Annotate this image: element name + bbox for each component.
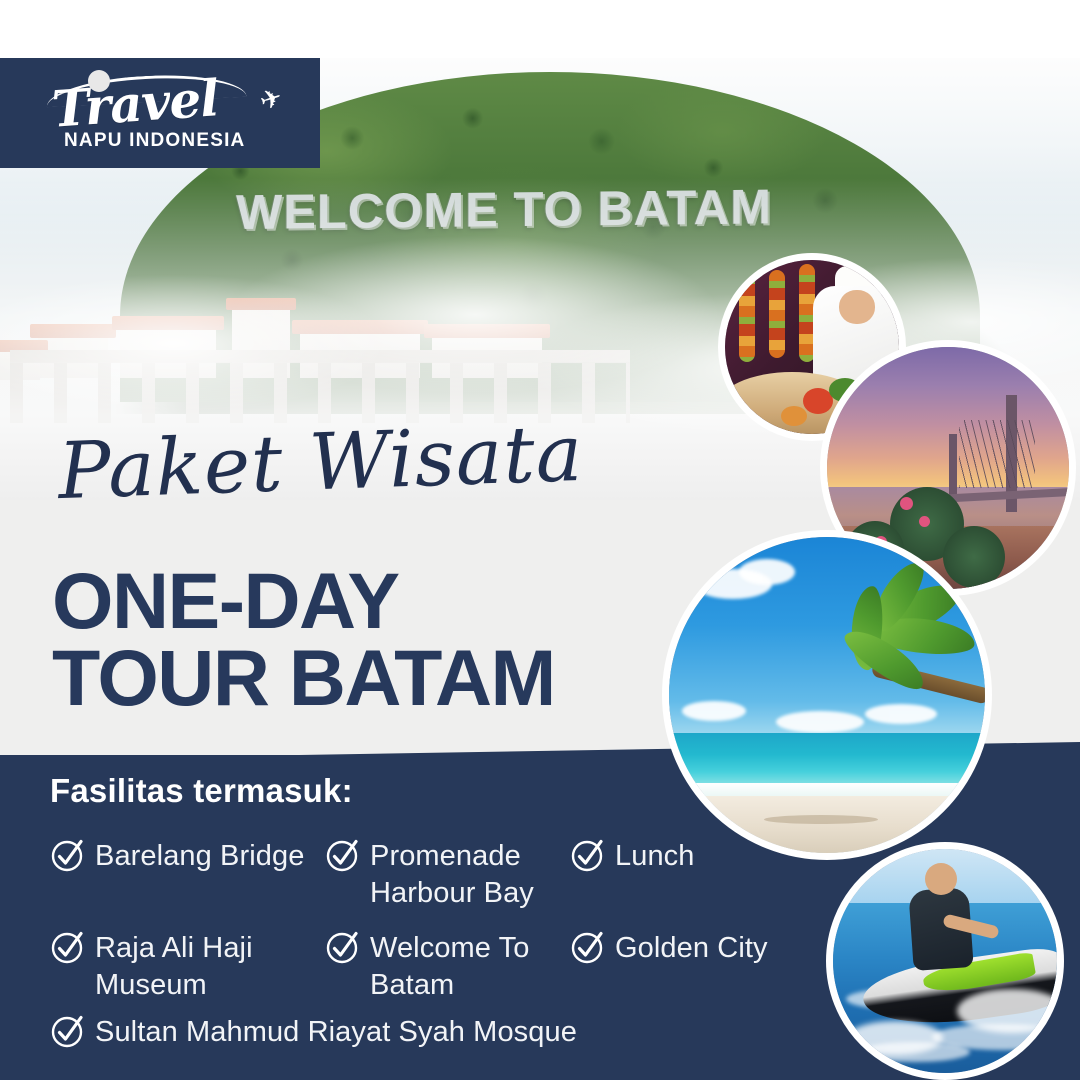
facility-item: Promenade Harbour Bay [325,836,575,912]
facility-label: Sultan Mahmud Riayat Syah Mosque [95,1012,577,1051]
check-circle-icon [50,1013,86,1049]
check-circle-icon [570,929,606,965]
facility-item: Raja Ali Haji Museum [50,928,320,1004]
script-title: Paket Wisata [57,415,585,511]
facility-label: Raja Ali Haji Museum [95,928,320,1004]
airplane-icon: ✈ [257,83,286,114]
brand-script-name: Travel [50,68,220,138]
photo-bubble-jetski [826,842,1064,1080]
check-circle-icon [325,837,361,873]
page-title: ONE-DAY TOUR BATAM [52,562,555,717]
check-circle-icon [50,929,86,965]
facility-label: Welcome To Batam [370,928,575,1004]
check-circle-icon [570,837,606,873]
check-circle-icon [325,929,361,965]
brand-logo: Travel ✈ NAPU INDONESIA [0,58,320,168]
facility-item: Golden City [570,928,870,967]
facility-label: Golden City [615,928,768,967]
brand-sub-name: NAPU INDONESIA [64,130,245,152]
travel-poster: WELCOME TO BATAM Travel ✈ NAPU INDONESIA [0,0,1080,1080]
facilities-heading: Fasilitas termasuk: [50,772,353,810]
photo-bubble-beach [662,530,992,860]
check-circle-icon [50,837,86,873]
facility-item: Welcome To Batam [325,928,575,1004]
facility-item: Barelang Bridge [50,836,320,875]
facility-label: Barelang Bridge [95,836,304,875]
facility-label: Promenade Harbour Bay [370,836,575,912]
facility-item: Sultan Mahmud Riayat Syah Mosque [50,1012,750,1051]
